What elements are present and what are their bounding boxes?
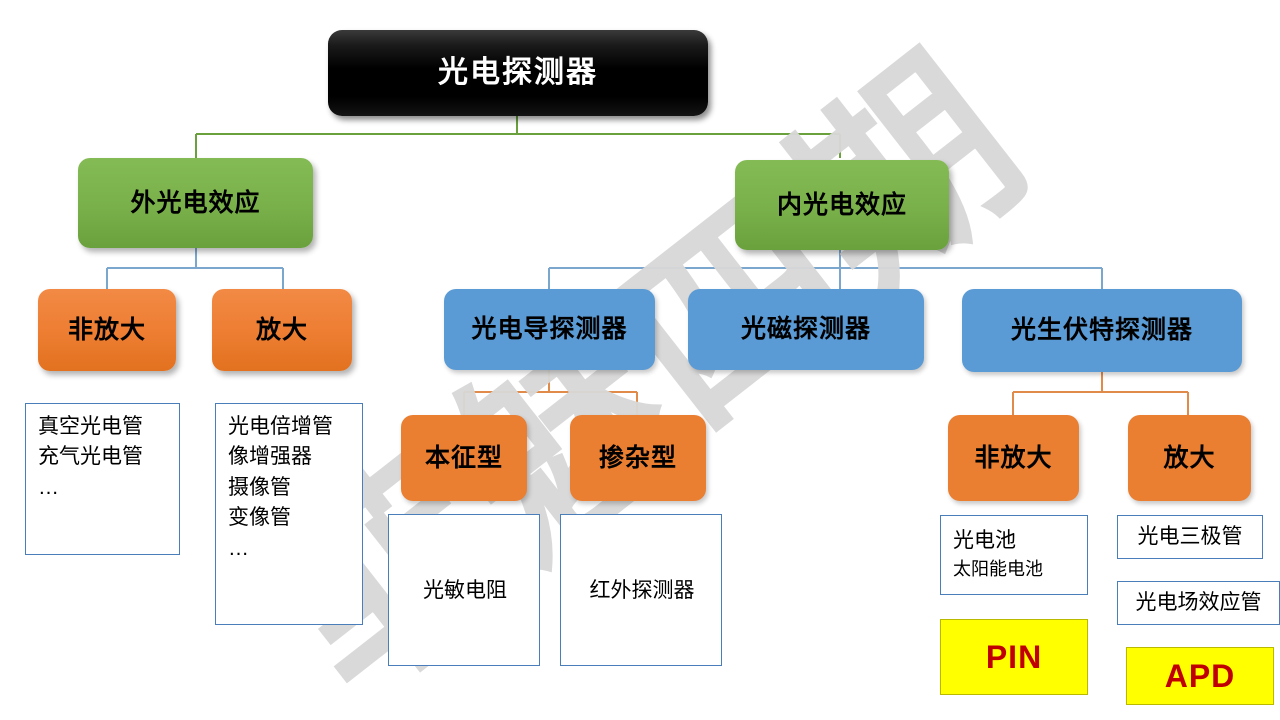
- node-photovoltaic-amplified-label: 放大: [1163, 444, 1215, 473]
- node-photovoltaic-amplified[interactable]: 放大: [1128, 415, 1251, 501]
- list-item: 光电三极管: [1138, 522, 1243, 552]
- list-doped-examples: 红外探测器: [560, 514, 722, 666]
- node-photovoltaic-non-amplified[interactable]: 非放大: [948, 415, 1079, 501]
- connector-internal-children: [549, 250, 1102, 289]
- list-item: 像增强器: [228, 442, 312, 472]
- list-item: …: [228, 534, 249, 564]
- list-item: 充气光电管: [38, 442, 143, 472]
- list-item: 光电池: [953, 526, 1016, 556]
- highlight-pin: PIN: [940, 619, 1088, 695]
- node-photomagnetic-detector[interactable]: 光磁探测器: [688, 289, 924, 370]
- node-intrinsic-type[interactable]: 本征型: [401, 415, 527, 501]
- node-photoconductive-label: 光电导探测器: [471, 315, 627, 344]
- node-photovoltaic-detector[interactable]: 光生伏特探测器: [962, 289, 1242, 372]
- node-photomagnetic-label: 光磁探测器: [741, 315, 871, 344]
- list-item: 光电场效应管: [1136, 588, 1262, 618]
- node-photovoltaic-label: 光生伏特探测器: [1011, 316, 1193, 345]
- node-external-photoelectric-effect[interactable]: 外光电效应: [78, 158, 313, 248]
- node-external-amplified-label: 放大: [256, 316, 308, 345]
- node-root-photodetector[interactable]: 光电探测器: [328, 30, 708, 116]
- highlight-apd: APD: [1126, 647, 1274, 705]
- connector-root-to-effects: [196, 116, 840, 158]
- diagram-canvas: 菲魅四期 光电探测器 外光电效应 内光电效应 非放大 放大 真空光电管 充气光电…: [0, 0, 1280, 720]
- node-external-amplified[interactable]: 放大: [212, 289, 352, 371]
- list-item: 真空光电管: [38, 412, 143, 442]
- list-intrinsic-examples: 光敏电阻: [388, 514, 540, 666]
- list-item: …: [38, 473, 59, 503]
- list-item: 变像管: [228, 503, 291, 533]
- node-intrinsic-label: 本征型: [425, 444, 503, 473]
- list-item: 光电倍增管: [228, 412, 333, 442]
- highlight-pin-label: PIN: [986, 639, 1042, 676]
- list-photovoltaic-non-amplified: 光电池 太阳能电池: [940, 515, 1088, 595]
- list-item: 光敏电阻: [423, 576, 507, 606]
- highlight-apd-label: APD: [1165, 658, 1236, 695]
- node-internal-label: 内光电效应: [777, 191, 907, 220]
- connector-external-children: [107, 248, 283, 289]
- node-external-non-amplified[interactable]: 非放大: [38, 289, 176, 371]
- list-item: 摄像管: [228, 473, 291, 503]
- connector-photoconductive-children: [464, 370, 637, 415]
- node-internal-photoelectric-effect[interactable]: 内光电效应: [735, 160, 949, 250]
- list-photovoltaic-amplified-item-2: 光电场效应管: [1117, 581, 1280, 625]
- node-doped-type[interactable]: 掺杂型: [570, 415, 706, 501]
- list-external-non-amplified: 真空光电管 充气光电管 …: [25, 403, 180, 555]
- list-item: 太阳能电池: [953, 556, 1043, 582]
- node-external-non-amplified-label: 非放大: [68, 316, 146, 345]
- node-external-label: 外光电效应: [130, 189, 260, 218]
- list-item: 红外探测器: [590, 576, 695, 606]
- node-root-label: 光电探测器: [438, 56, 598, 91]
- node-doped-label: 掺杂型: [599, 444, 677, 473]
- node-photovoltaic-non-amplified-label: 非放大: [974, 444, 1052, 473]
- list-photovoltaic-amplified-item-1: 光电三极管: [1117, 515, 1263, 559]
- list-external-amplified: 光电倍增管 像增强器 摄像管 变像管 …: [215, 403, 363, 625]
- node-photoconductive-detector[interactable]: 光电导探测器: [444, 289, 655, 370]
- connector-photovoltaic-children: [1013, 372, 1188, 415]
